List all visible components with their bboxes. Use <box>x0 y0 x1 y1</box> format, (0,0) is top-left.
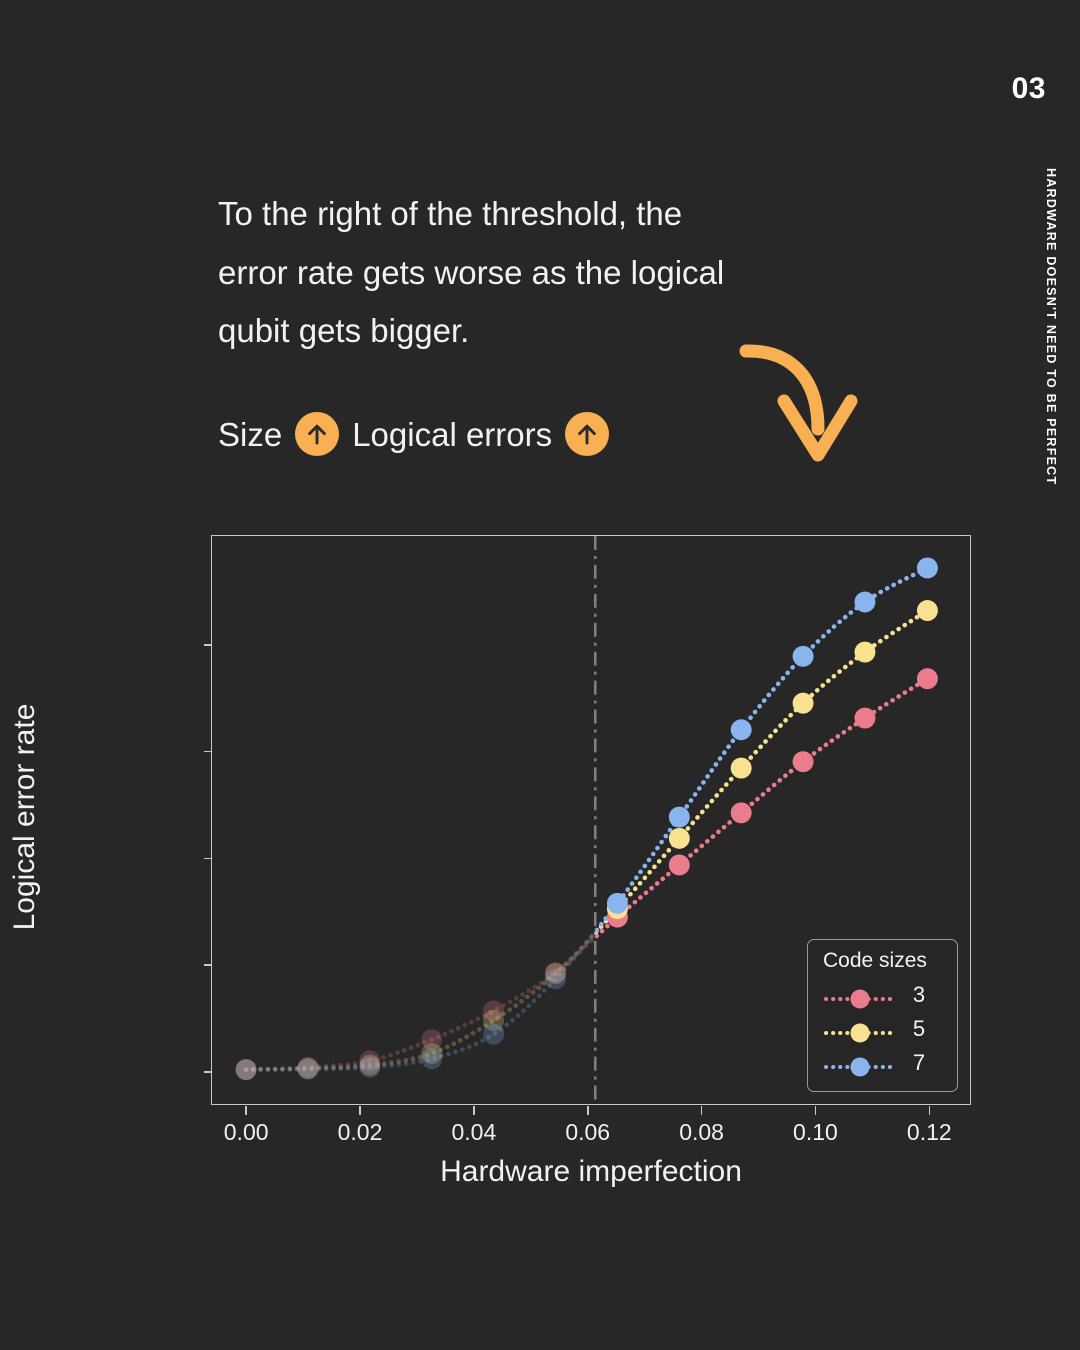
logical-errors-label: Logical errors <box>352 418 552 451</box>
legend-title: Code sizes <box>823 949 941 973</box>
data-point-7 <box>917 557 938 578</box>
y-tick-mark <box>204 644 212 646</box>
legend-label: 5 <box>897 1016 941 1042</box>
x-tick-mark <box>245 1106 247 1115</box>
x-tick-mark <box>473 1106 475 1115</box>
y-tick-mark <box>204 1071 212 1073</box>
legend-marker-5 <box>823 1022 897 1036</box>
size-errors-line: Size Logical errors <box>218 412 622 456</box>
data-point-5 <box>917 600 938 621</box>
size-label: Size <box>218 418 282 451</box>
data-point-3 <box>731 802 752 823</box>
x-tick-mark <box>359 1106 361 1115</box>
x-tick-mark <box>587 1106 589 1115</box>
x-tick-mark <box>815 1106 817 1115</box>
legend-row[interactable]: 5 <box>823 1012 941 1046</box>
legend-label: 7 <box>897 1050 941 1076</box>
data-point-3 <box>793 751 814 772</box>
data-point-7 <box>359 1057 380 1078</box>
y-axis-label: Logical error rate <box>8 537 42 1097</box>
y-tick-mark <box>204 751 212 753</box>
data-point-7 <box>793 646 814 667</box>
side-title: HARDWARE DOESN'T NEED TO BE PERFECT <box>1044 168 1058 485</box>
data-point-5 <box>793 693 814 714</box>
data-point-7 <box>669 807 690 828</box>
y-tick-mark <box>204 858 212 860</box>
legend-rows: 357 <box>823 978 941 1080</box>
data-point-5 <box>731 758 752 779</box>
x-tick-label: 0.12 <box>859 1119 999 1146</box>
plot-frame: 0.00.10.20.30.40.000.020.040.060.080.100… <box>211 535 971 1105</box>
data-point-7 <box>607 893 628 914</box>
y-tick-mark <box>204 964 212 966</box>
legend-label: 3 <box>897 982 941 1008</box>
data-point-5 <box>669 828 690 849</box>
x-tick-mark <box>929 1106 931 1115</box>
data-point-7 <box>731 719 752 740</box>
data-point-7 <box>483 1024 504 1045</box>
headline-text: To the right of the threshold, the error… <box>218 185 738 361</box>
arrow-up-icon <box>565 412 609 456</box>
page-number: 03 <box>1012 72 1046 106</box>
data-point-3 <box>917 668 938 689</box>
legend-marker-7 <box>823 1056 897 1070</box>
data-point-5 <box>854 642 875 663</box>
data-point-7 <box>421 1048 442 1069</box>
chart: Logical error rate Hardware imperfection… <box>0 500 1080 1230</box>
legend-marker-3 <box>823 988 897 1002</box>
data-point-7 <box>297 1059 318 1080</box>
data-point-7 <box>236 1059 257 1080</box>
x-tick-mark <box>701 1106 703 1115</box>
x-axis-label: Hardware imperfection <box>211 1155 971 1189</box>
data-point-3 <box>854 708 875 729</box>
legend-row[interactable]: 3 <box>823 978 941 1012</box>
arrow-up-icon <box>295 412 339 456</box>
legend[interactable]: Code sizes 357 <box>807 939 958 1092</box>
curved-down-arrow-icon <box>738 333 860 473</box>
data-point-3 <box>669 854 690 875</box>
data-point-7 <box>545 968 566 989</box>
legend-row[interactable]: 7 <box>823 1046 941 1080</box>
data-point-7 <box>854 592 875 613</box>
